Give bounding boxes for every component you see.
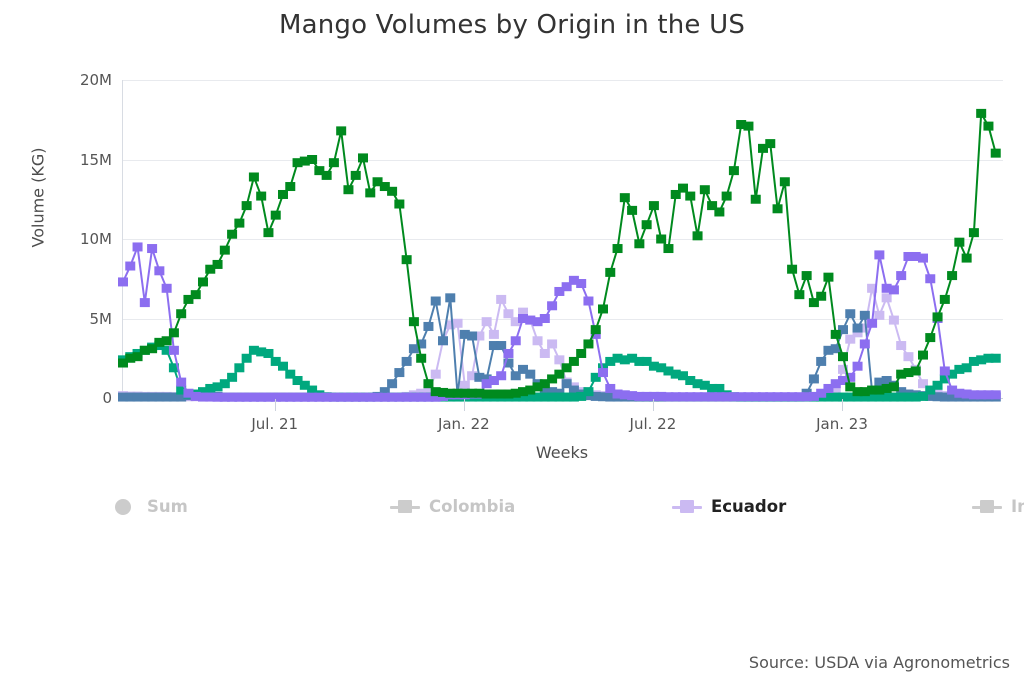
data-point[interactable] [693,231,703,240]
data-point[interactable] [118,277,128,286]
data-point[interactable] [453,319,463,328]
data-point[interactable] [940,366,950,375]
data-point[interactable] [423,379,433,388]
data-point[interactable] [263,349,273,358]
data-point[interactable] [787,265,797,274]
data-point[interactable] [402,255,412,264]
data-point[interactable] [438,336,448,345]
data-point[interactable] [460,381,470,390]
data-point[interactable] [445,293,455,302]
legend-item-sum[interactable]: Sum [108,499,390,516]
legend-item-label: India [1011,499,1024,516]
data-point[interactable] [394,368,404,377]
data-point[interactable] [431,297,441,306]
data-point[interactable] [307,155,317,164]
data-point[interactable] [780,177,790,186]
data-point[interactable] [991,149,1001,158]
data-point[interactable] [773,204,783,213]
data-point[interactable] [896,271,906,280]
data-point[interactable] [540,314,550,323]
data-point[interactable] [271,211,281,220]
data-point[interactable] [954,238,964,247]
x-axis-label: Weeks [122,443,1002,462]
data-point[interactable] [976,109,986,118]
data-point[interactable] [642,220,652,229]
data-point[interactable] [918,254,928,263]
data-point[interactable] [278,362,288,371]
data-point[interactable] [889,316,899,325]
data-point[interactable] [583,297,593,306]
data-point[interactable] [969,228,979,237]
data-point[interactable] [489,330,499,339]
x-tick-label: Jul. 21 [251,415,298,433]
data-point[interactable] [576,349,586,358]
legend-square-icon [972,500,1002,514]
data-point[interactable] [176,378,186,387]
data-point[interactable] [227,373,237,382]
data-point[interactable] [896,341,906,350]
y-axis-label: Volume (KG) [29,98,48,298]
data-point[interactable] [991,390,1001,399]
data-point[interactable] [496,371,506,380]
data-point[interactable] [983,122,993,131]
legend-item-india[interactable]: India [972,499,1024,516]
data-point[interactable] [765,139,775,148]
data-point[interactable] [591,325,601,334]
data-point[interactable] [838,352,848,361]
legend-circle-icon [108,500,138,514]
data-point[interactable] [663,244,673,253]
data-point[interactable] [678,184,688,193]
source-note: Source: USDA via Agronometrics [749,653,1010,672]
data-point[interactable] [925,274,935,283]
data-point[interactable] [714,207,724,216]
data-point[interactable] [634,239,644,248]
data-point[interactable] [700,185,710,194]
data-point[interactable] [605,268,615,277]
data-point[interactable] [227,230,237,239]
data-point[interactable] [220,246,230,255]
data-point[interactable] [874,311,884,320]
legend-item-label: Sum [147,499,188,516]
plot-area [122,80,1002,398]
data-point[interactable] [722,192,732,201]
y-tick-label: 10M [46,230,112,248]
data-point[interactable] [409,317,419,326]
data-point[interactable] [962,254,972,263]
data-point[interactable] [554,355,564,364]
page-title: Mango Volumes by Origin in the US [0,10,1024,40]
data-point[interactable] [809,374,819,383]
x-axis-ticks: Jul. 21Jan. 22Jul. 22Jan. 23 [122,399,1002,439]
data-point[interactable] [423,322,433,331]
legend-item-ecuador[interactable]: Ecuador [672,499,972,516]
data-point[interactable] [729,166,739,175]
x-tick-label: Jan. 23 [816,415,868,433]
data-point[interactable] [213,260,223,269]
data-point[interactable] [533,336,543,345]
data-point[interactable] [860,311,870,320]
data-point[interactable] [627,206,637,215]
data-point[interactable] [365,188,375,197]
y-tick-label: 5M [46,310,112,328]
x-tick-mark [842,399,843,411]
data-point[interactable] [918,351,928,360]
y-tick-label: 0 [46,389,112,407]
data-point[interactable] [845,309,855,318]
data-point[interactable] [540,349,550,358]
data-point[interactable] [133,242,143,251]
data-point[interactable] [816,357,826,366]
data-point[interactable] [525,370,535,379]
data-point[interactable] [329,158,339,167]
data-point[interactable] [991,354,1001,363]
data-point[interactable] [583,387,593,396]
chart-legend[interactable]: SumColombiaEcuadorIndiaNicaraguaThailand… [108,494,1018,520]
data-point[interactable] [242,354,252,363]
data-point[interactable] [169,328,179,337]
data-point[interactable] [889,382,899,391]
data-point[interactable] [867,319,877,328]
data-point[interactable] [242,201,252,210]
data-point[interactable] [263,228,273,237]
data-point[interactable] [547,301,557,310]
data-point[interactable] [874,250,884,259]
data-point[interactable] [503,349,513,358]
data-point[interactable] [162,284,172,293]
data-point[interactable] [685,192,695,201]
data-point[interactable] [889,285,899,294]
data-point[interactable] [620,193,630,202]
data-point[interactable] [394,200,404,209]
data-point[interactable] [249,172,259,181]
data-point[interactable] [940,295,950,304]
data-point[interactable] [387,379,397,388]
data-point[interactable] [278,190,288,199]
data-point[interactable] [911,366,921,375]
x-tick-mark [464,399,465,411]
chart-container: Mango Volumes by Origin in the US Volume… [0,0,1024,683]
data-point[interactable] [496,341,506,350]
y-axis-ticks: 05M10M15M20M [46,80,112,398]
data-point[interactable] [823,273,833,282]
y-tick-label: 15M [46,151,112,169]
data-point[interactable] [860,339,870,348]
data-point[interactable] [169,346,179,355]
data-point[interactable] [816,292,826,301]
data-point[interactable] [336,126,346,135]
legend-square-icon [672,500,702,514]
data-point[interactable] [496,295,506,304]
data-point[interactable] [234,219,244,228]
series-layer [123,80,1003,398]
legend-item-label: Ecuador [711,499,786,516]
data-point[interactable] [402,357,412,366]
data-point[interactable] [140,298,150,307]
legend-square-icon [390,500,420,514]
data-point[interactable] [613,244,623,253]
data-point[interactable] [933,312,943,321]
legend-item-colombia[interactable]: Colombia [390,499,672,516]
data-point[interactable] [569,357,579,366]
data-point[interactable] [351,171,361,180]
data-point[interactable] [387,187,397,196]
x-tick-mark [275,399,276,411]
data-point[interactable] [511,336,521,345]
data-point[interactable] [853,362,863,371]
data-point[interactable] [925,333,935,342]
data-point[interactable] [903,352,913,361]
legend-item-label: Colombia [429,499,515,516]
data-point[interactable] [656,235,666,244]
data-point[interactable] [191,290,201,299]
data-point[interactable] [831,330,841,339]
data-point[interactable] [743,122,753,131]
data-point[interactable] [467,331,477,340]
data-point[interactable] [147,244,157,253]
data-point[interactable] [598,304,608,313]
data-point[interactable] [482,317,492,326]
data-point[interactable] [176,309,186,318]
data-point[interactable] [576,279,586,288]
data-point[interactable] [751,195,761,204]
y-tick-label: 20M [46,71,112,89]
data-point[interactable] [853,324,863,333]
data-point[interactable] [547,339,557,348]
data-point[interactable] [234,363,244,372]
data-point[interactable] [583,339,593,348]
data-point[interactable] [802,271,812,280]
data-point[interactable] [358,153,368,162]
data-point[interactable] [598,368,608,377]
x-tick-mark [653,399,654,411]
data-point[interactable] [503,309,513,318]
data-point[interactable] [416,354,426,363]
data-point[interactable] [154,266,164,275]
data-point[interactable] [125,262,135,271]
data-point[interactable] [256,192,266,201]
data-point[interactable] [285,182,295,191]
data-point[interactable] [794,290,804,299]
data-point[interactable] [882,293,892,302]
data-point[interactable] [431,370,441,379]
x-tick-label: Jul. 22 [630,415,677,433]
data-point[interactable] [162,336,172,345]
data-point[interactable] [649,201,659,210]
data-point[interactable] [343,185,353,194]
x-tick-label: Jan. 22 [438,415,490,433]
data-point[interactable] [947,271,957,280]
data-point[interactable] [198,277,208,286]
data-point[interactable] [322,171,332,180]
